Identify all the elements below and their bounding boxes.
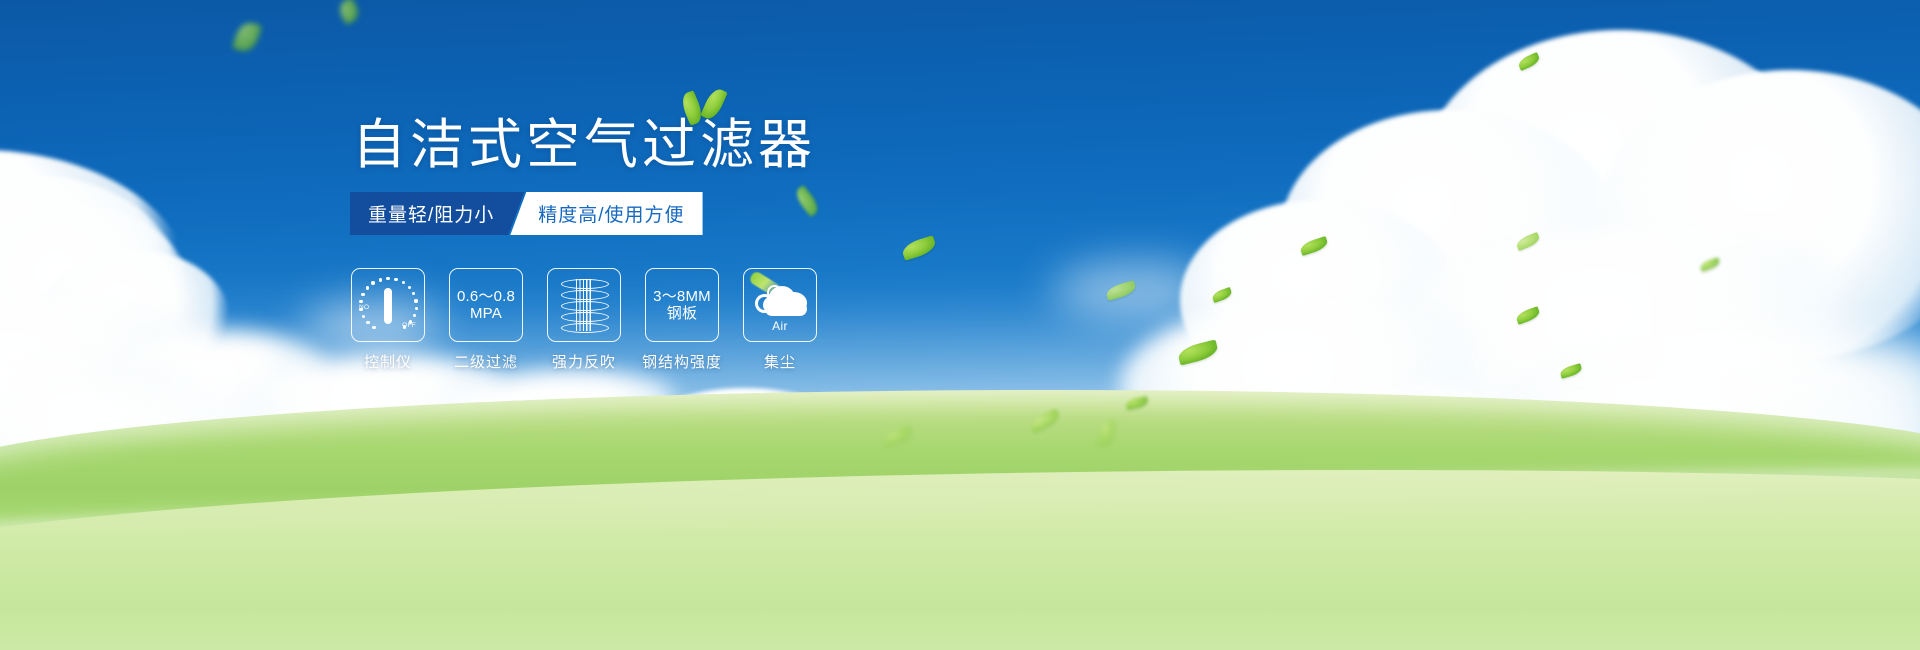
banner-content: 自洁式空气过滤器 重量轻/阻力小 精度高/使用方便 [0, 0, 1920, 650]
feature-icon-box: 0.6～0.8 MPA [449, 268, 523, 342]
feature-icon-box: NO OFF [351, 268, 425, 342]
cloud-air-icon: Air [751, 280, 809, 330]
feature-item-dust-collection[interactable]: Air 集尘 [744, 268, 816, 372]
tab-lightweight-lowresistance[interactable]: 重量轻/阻力小 [350, 192, 524, 235]
gauge-label-off: OFF [402, 322, 416, 329]
pressure-value-line2: MPA [457, 305, 515, 322]
coil-blowback-icon [561, 279, 607, 331]
feature-item-steel-strength[interactable]: 3～8MM 钢板 钢结构强度 [646, 268, 718, 372]
tab-highprecision-easyuse[interactable]: 精度高/使用方便 [510, 192, 702, 235]
feature-icon-box [547, 268, 621, 342]
gauge-icon: NO OFF [358, 275, 418, 335]
pressure-value-line1: 0.6～0.8 [457, 288, 515, 305]
steel-plate-text-icon: 3～8MM 钢板 [653, 288, 711, 322]
air-label: Air [751, 319, 809, 333]
gauge-label-no: NO [359, 304, 369, 311]
subtitle-tabs: 重量轻/阻力小 精度高/使用方便 [350, 192, 703, 235]
feature-label-steel-strength: 钢结构强度 [642, 351, 722, 372]
feature-icon-box: Air [743, 268, 817, 342]
steel-value-line2: 钢板 [653, 305, 711, 322]
feature-icon-box: 3～8MM 钢板 [645, 268, 719, 342]
feature-item-controller[interactable]: NO OFF 控制仪 [352, 268, 424, 372]
feature-list: NO OFF 控制仪 0.6～0.8 MPA 二级过滤 [352, 268, 816, 372]
feature-label-filtration: 二级过滤 [454, 351, 518, 372]
steel-value-line1: 3～8MM [653, 288, 711, 305]
gauge-needle [384, 288, 392, 324]
feature-label-blowback: 强力反吹 [552, 351, 616, 372]
banner-stage: 自洁式空气过滤器 重量轻/阻力小 精度高/使用方便 [0, 0, 1920, 650]
feature-item-filtration[interactable]: 0.6～0.8 MPA 二级过滤 [450, 268, 522, 372]
page-title: 自洁式空气过滤器 [352, 118, 816, 172]
feature-label-controller: 控制仪 [364, 351, 412, 372]
pressure-text-icon: 0.6～0.8 MPA [457, 288, 515, 322]
feature-item-blowback[interactable]: 强力反吹 [548, 268, 620, 372]
feature-label-dust-collection: 集尘 [764, 351, 796, 372]
